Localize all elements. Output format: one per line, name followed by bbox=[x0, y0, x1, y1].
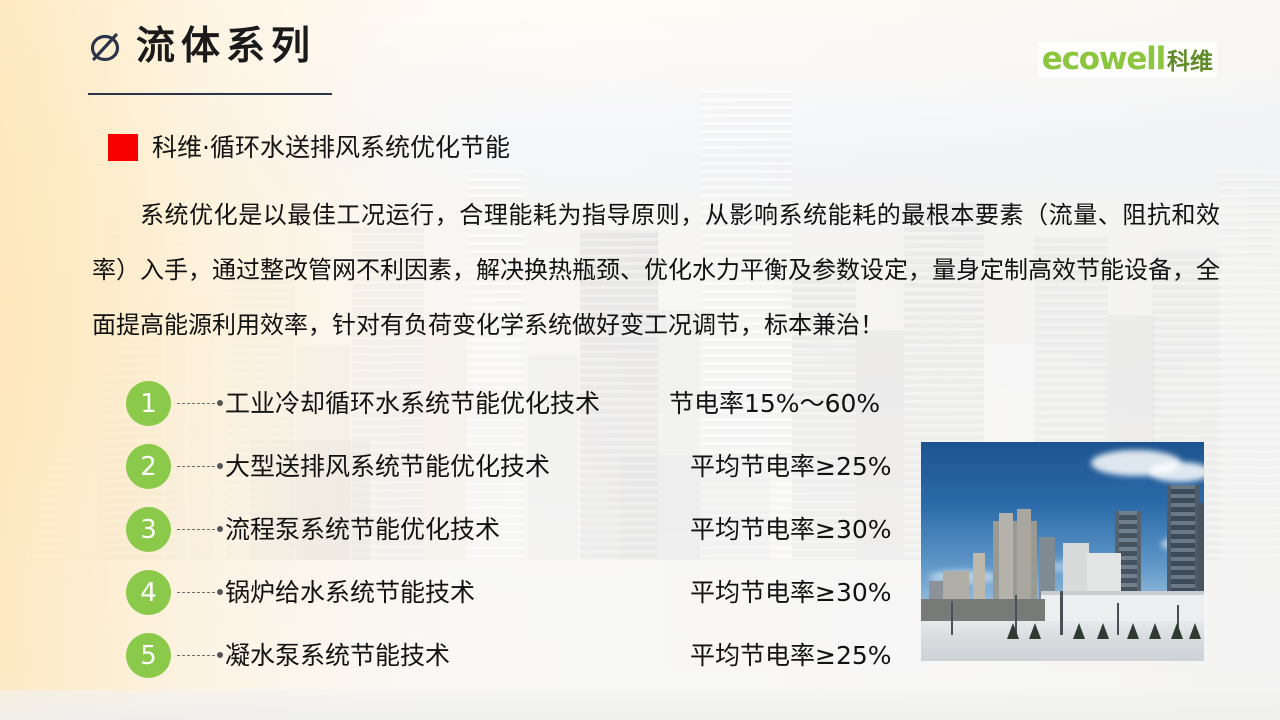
list-item: 5 凝水泵系统节能技术 平均节电率≥25% bbox=[126, 624, 892, 687]
list-item-value: 平均节电率≥30% bbox=[690, 580, 892, 605]
list-item-value: 节电率15%～60% bbox=[669, 391, 880, 416]
ecowell-logo: ecowell 科维 bbox=[1038, 42, 1217, 77]
list-item-value: 平均节电率≥30% bbox=[690, 517, 892, 542]
title-underline-rule bbox=[88, 93, 332, 95]
list-item-value: 平均节电率≥25% bbox=[690, 454, 892, 479]
red-square-bullet-icon bbox=[108, 134, 138, 161]
industrial-plant-photo bbox=[921, 442, 1204, 661]
dashed-connector-icon bbox=[177, 588, 223, 598]
list-item-label: 流程泵系统节能优化技术 bbox=[225, 517, 655, 542]
dashed-connector-icon bbox=[177, 462, 223, 472]
list-item: 1 工业冷却循环水系统节能优化技术 节电率15%～60% bbox=[126, 372, 892, 435]
slide: 流体系列 ecowell 科维 科维·循环水送排风系统优化节能 系统优化是以最佳… bbox=[0, 0, 1280, 720]
list-number-badge: 5 bbox=[126, 633, 171, 678]
list-item: 3 流程泵系统节能优化技术 平均节电率≥30% bbox=[126, 498, 892, 561]
body-paragraph: 系统优化是以最佳工况运行，合理能耗为指导原则，从影响系统能耗的最根本要素（流量、… bbox=[92, 188, 1220, 353]
list-item: 2 大型送排风系统节能优化技术 平均节电率≥25% bbox=[126, 435, 892, 498]
slide-header: 流体系列 bbox=[88, 26, 316, 66]
list-item-value: 平均节电率≥25% bbox=[690, 643, 892, 668]
subheading-text: 科维·循环水送排风系统优化节能 bbox=[152, 135, 510, 160]
logo-wordmark: ecowell bbox=[1042, 44, 1165, 75]
dashed-connector-icon bbox=[177, 525, 223, 535]
list-item-label: 凝水泵系统节能技术 bbox=[225, 643, 655, 668]
page-title: 流体系列 bbox=[136, 27, 316, 66]
list-item-label: 大型送排风系统节能优化技术 bbox=[225, 454, 655, 479]
list-item-label: 工业冷却循环水系统节能优化技术 bbox=[225, 391, 655, 416]
bottom-strip bbox=[0, 690, 1280, 720]
list-number-badge: 2 bbox=[126, 444, 171, 489]
list-number-badge: 1 bbox=[126, 381, 171, 426]
list-number-badge: 4 bbox=[126, 570, 171, 615]
diameter-slashed-circle-icon bbox=[88, 26, 122, 66]
logo-chinese-name: 科维 bbox=[1167, 51, 1213, 74]
dashed-connector-icon bbox=[177, 651, 223, 661]
list-number-badge: 3 bbox=[126, 507, 171, 552]
list-item: 4 锅炉给水系统节能技术 平均节电率≥30% bbox=[126, 561, 892, 624]
technology-list: 1 工业冷却循环水系统节能优化技术 节电率15%～60% 2 大型送排风系统节能… bbox=[126, 372, 892, 687]
list-item-label: 锅炉给水系统节能技术 bbox=[225, 580, 655, 605]
dashed-connector-icon bbox=[177, 399, 223, 409]
section-subheading: 科维·循环水送排风系统优化节能 bbox=[108, 134, 510, 161]
